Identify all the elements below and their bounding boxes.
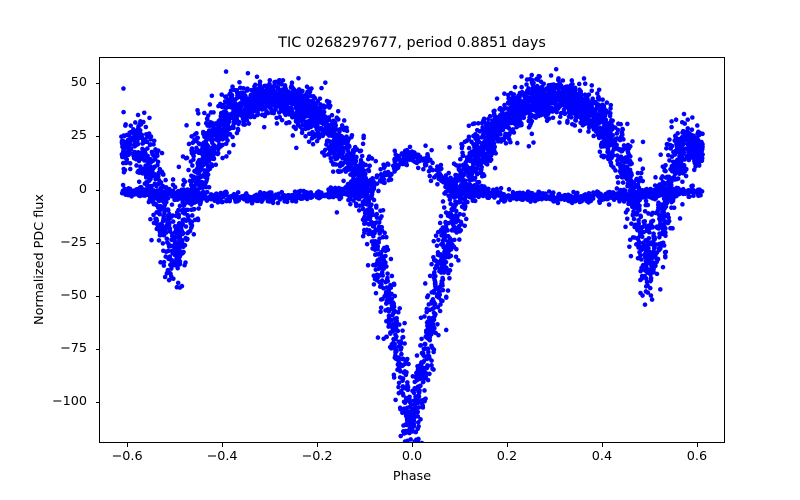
y-tick-label: 25 xyxy=(0,128,87,143)
x-tick-mark xyxy=(127,443,128,447)
x-tick-mark xyxy=(507,443,508,447)
y-tick-label: −75 xyxy=(0,341,87,356)
x-tick-label: 0.4 xyxy=(562,449,642,464)
x-tick-mark xyxy=(602,443,603,447)
x-tick-label: −0.6 xyxy=(87,449,167,464)
y-tick-mark xyxy=(96,349,100,350)
x-tick-mark xyxy=(697,443,698,447)
y-tick-mark xyxy=(96,136,100,137)
y-tick-label: 50 xyxy=(0,75,87,90)
y-tick-mark xyxy=(96,83,100,84)
x-tick-mark xyxy=(412,443,413,447)
y-tick-mark xyxy=(96,190,100,191)
plot-data-area xyxy=(100,58,724,442)
x-axis-label: Phase xyxy=(99,469,725,484)
x-tick-label: 0.2 xyxy=(467,449,547,464)
x-tick-label: 0.6 xyxy=(657,449,737,464)
figure-canvas: TIC 0268297677, period 0.8851 days −0.6−… xyxy=(0,0,800,500)
scatter-plot-svg xyxy=(100,58,724,442)
page-title: TIC 0268297677, period 0.8851 days xyxy=(99,34,725,52)
x-tick-mark xyxy=(317,443,318,447)
y-tick-label: −100 xyxy=(0,394,87,409)
x-tick-label: −0.4 xyxy=(182,449,262,464)
y-axis-label: Normalized PDC flux xyxy=(32,194,47,325)
plot-axes-frame xyxy=(99,57,725,443)
x-tick-mark xyxy=(222,443,223,447)
x-tick-label: −0.2 xyxy=(277,449,357,464)
y-tick-mark xyxy=(96,402,100,403)
x-tick-label: 0.0 xyxy=(372,449,452,464)
y-tick-mark xyxy=(96,243,100,244)
y-tick-mark xyxy=(96,296,100,297)
